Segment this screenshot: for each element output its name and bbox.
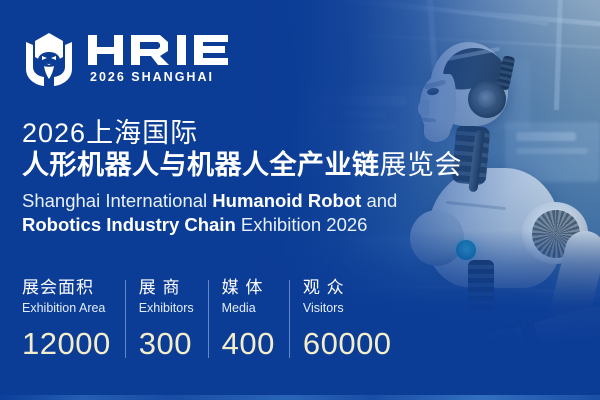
headline-en-line1: Shanghai International Humanoid Robot an… <box>22 189 462 213</box>
headline-block: 2026上海国际 人形机器人与机器人全产业链展览会 Shanghai Inter… <box>22 118 462 236</box>
banner-content: 2026 SHANGHAI 2026上海国际 人形机器人与机器人全产业链展览会 … <box>0 0 600 400</box>
headline-en-line2-regular: Exhibition 2026 <box>236 214 368 235</box>
stat-label-en: Exhibition Area <box>22 300 111 316</box>
headline-cn-line2-bold: 人形机器人与机器人全产业链 <box>22 150 380 180</box>
brand-logo[interactable]: 2026 SHANGHAI <box>22 28 258 88</box>
headline-en-line1-b: and <box>361 190 397 211</box>
stat-value: 60000 <box>303 326 392 362</box>
stat-media: 媒 体 Media 400 <box>208 278 289 362</box>
headline-en-block: Shanghai International Humanoid Robot an… <box>22 189 462 236</box>
stat-label-en: Media <box>222 300 275 316</box>
logo-tagline: 2026 SHANGHAI <box>90 70 258 84</box>
stat-label-en: Exhibitors <box>139 300 194 316</box>
hrie-wordmark-icon <box>88 33 258 67</box>
exhibition-banner: 2026 SHANGHAI 2026上海国际 人形机器人与机器人全产业链展览会 … <box>0 0 600 400</box>
stat-label-cn: 展 商 <box>139 278 194 298</box>
stat-label-cn: 展会面积 <box>22 278 111 298</box>
stat-value: 400 <box>222 326 275 362</box>
headline-cn-line1: 2026上海国际 <box>22 118 462 149</box>
headline-en-line2: Robotics Industry Chain Exhibition 2026 <box>22 213 462 237</box>
stat-exhibitors: 展 商 Exhibitors 300 <box>125 278 208 362</box>
stat-value: 12000 <box>22 326 111 362</box>
headline-en-line1-a: Shanghai International <box>22 190 212 211</box>
stat-label-en: Visitors <box>303 300 392 316</box>
stat-label-cn: 媒 体 <box>222 278 275 298</box>
headline-en-line1-bold: Humanoid Robot <box>212 190 361 211</box>
logo-text-block: 2026 SHANGHAI <box>88 33 258 84</box>
stat-label-cn: 观 众 <box>303 278 392 298</box>
stat-value: 300 <box>139 326 194 362</box>
headline-cn-line2-regular: 展览会 <box>380 150 463 180</box>
stat-exhibition-area: 展会面积 Exhibition Area 12000 <box>22 278 125 362</box>
stats-row: 展会面积 Exhibition Area 12000 展 商 Exhibitor… <box>22 278 406 362</box>
stat-visitors: 观 众 Visitors 60000 <box>289 278 406 362</box>
headline-en-line2-bold: Robotics Industry Chain <box>22 214 236 235</box>
headline-cn-line2: 人形机器人与机器人全产业链展览会 <box>22 149 462 182</box>
hexagon-robot-head-icon <box>22 28 76 88</box>
